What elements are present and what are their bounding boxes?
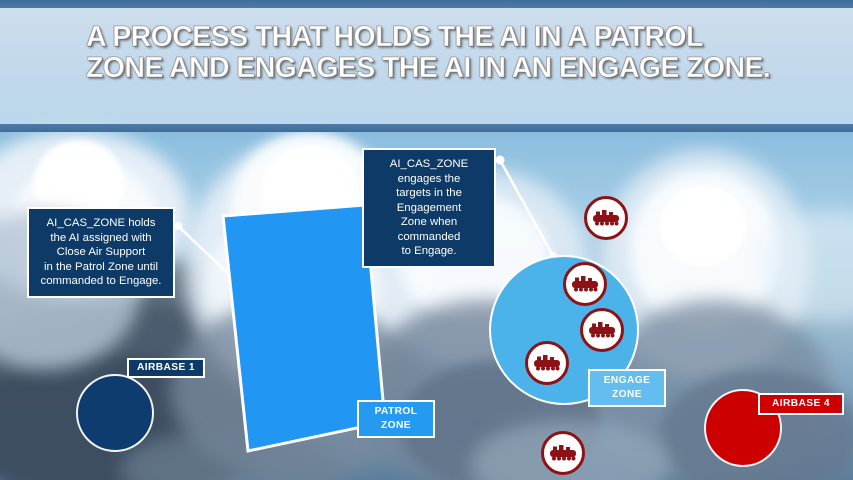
callout-line: Zone when commanded xyxy=(373,215,485,244)
callout-line: AI_CAS_ZONE holds xyxy=(38,216,164,231)
cloud-shape xyxy=(630,170,780,330)
patrol-callout-box: AI_CAS_ZONE holds the AI assigned with C… xyxy=(27,207,175,298)
callout-line: AI_CAS_ZONE engages the xyxy=(373,157,485,186)
airbase-1-marker[interactable] xyxy=(76,374,154,452)
callout-line: to Engage. xyxy=(373,244,485,259)
engage-zone-label-line1: ENGAGE xyxy=(604,374,651,388)
slide-header: A PROCESS THAT HOLDS THE AI IN A PATROL … xyxy=(0,0,853,132)
hostile-unit-icon[interactable] xyxy=(584,196,628,240)
callout-line: targets in the Engagement xyxy=(373,186,485,215)
engage-callout-box: AI_CAS_ZONE engages the targets in the E… xyxy=(362,148,496,268)
cloud-shape xyxy=(760,210,853,320)
header-bottom-rule xyxy=(0,124,853,132)
airbase-1-label[interactable]: AIRBASE 1 xyxy=(127,358,205,378)
callout-line: commanded to Engage. xyxy=(38,274,164,289)
airbase-1-label-text: AIRBASE 1 xyxy=(137,361,195,375)
patrol-zone-label-line2: ZONE xyxy=(381,419,411,433)
header-top-rule xyxy=(0,0,853,8)
engage-zone-label-line2: ZONE xyxy=(612,388,642,402)
slide-canvas: A PROCESS THAT HOLDS THE AI IN A PATROL … xyxy=(0,0,853,480)
cloud-shape xyxy=(660,186,746,266)
engage-zone-label[interactable]: ENGAGE ZONE xyxy=(588,369,666,407)
patrol-zone-label-line1: PATROL xyxy=(375,405,418,419)
airbase-4-label-text: AIRBASE 4 xyxy=(772,397,830,411)
hostile-unit-icon[interactable] xyxy=(525,341,569,385)
hostile-unit-icon[interactable] xyxy=(580,308,624,352)
hostile-unit-icon[interactable] xyxy=(563,262,607,306)
page-title: A PROCESS THAT HOLDS THE AI IN A PATROL … xyxy=(86,22,786,84)
callout-line: in the Patrol Zone until xyxy=(38,260,164,275)
callout-line: the AI assigned with xyxy=(38,231,164,246)
airbase-4-label[interactable]: AIRBASE 4 xyxy=(758,393,844,415)
patrol-zone-label[interactable]: PATROL ZONE xyxy=(357,400,435,438)
callout-line: Close Air Support xyxy=(38,245,164,260)
hostile-unit-icon[interactable] xyxy=(541,431,585,475)
